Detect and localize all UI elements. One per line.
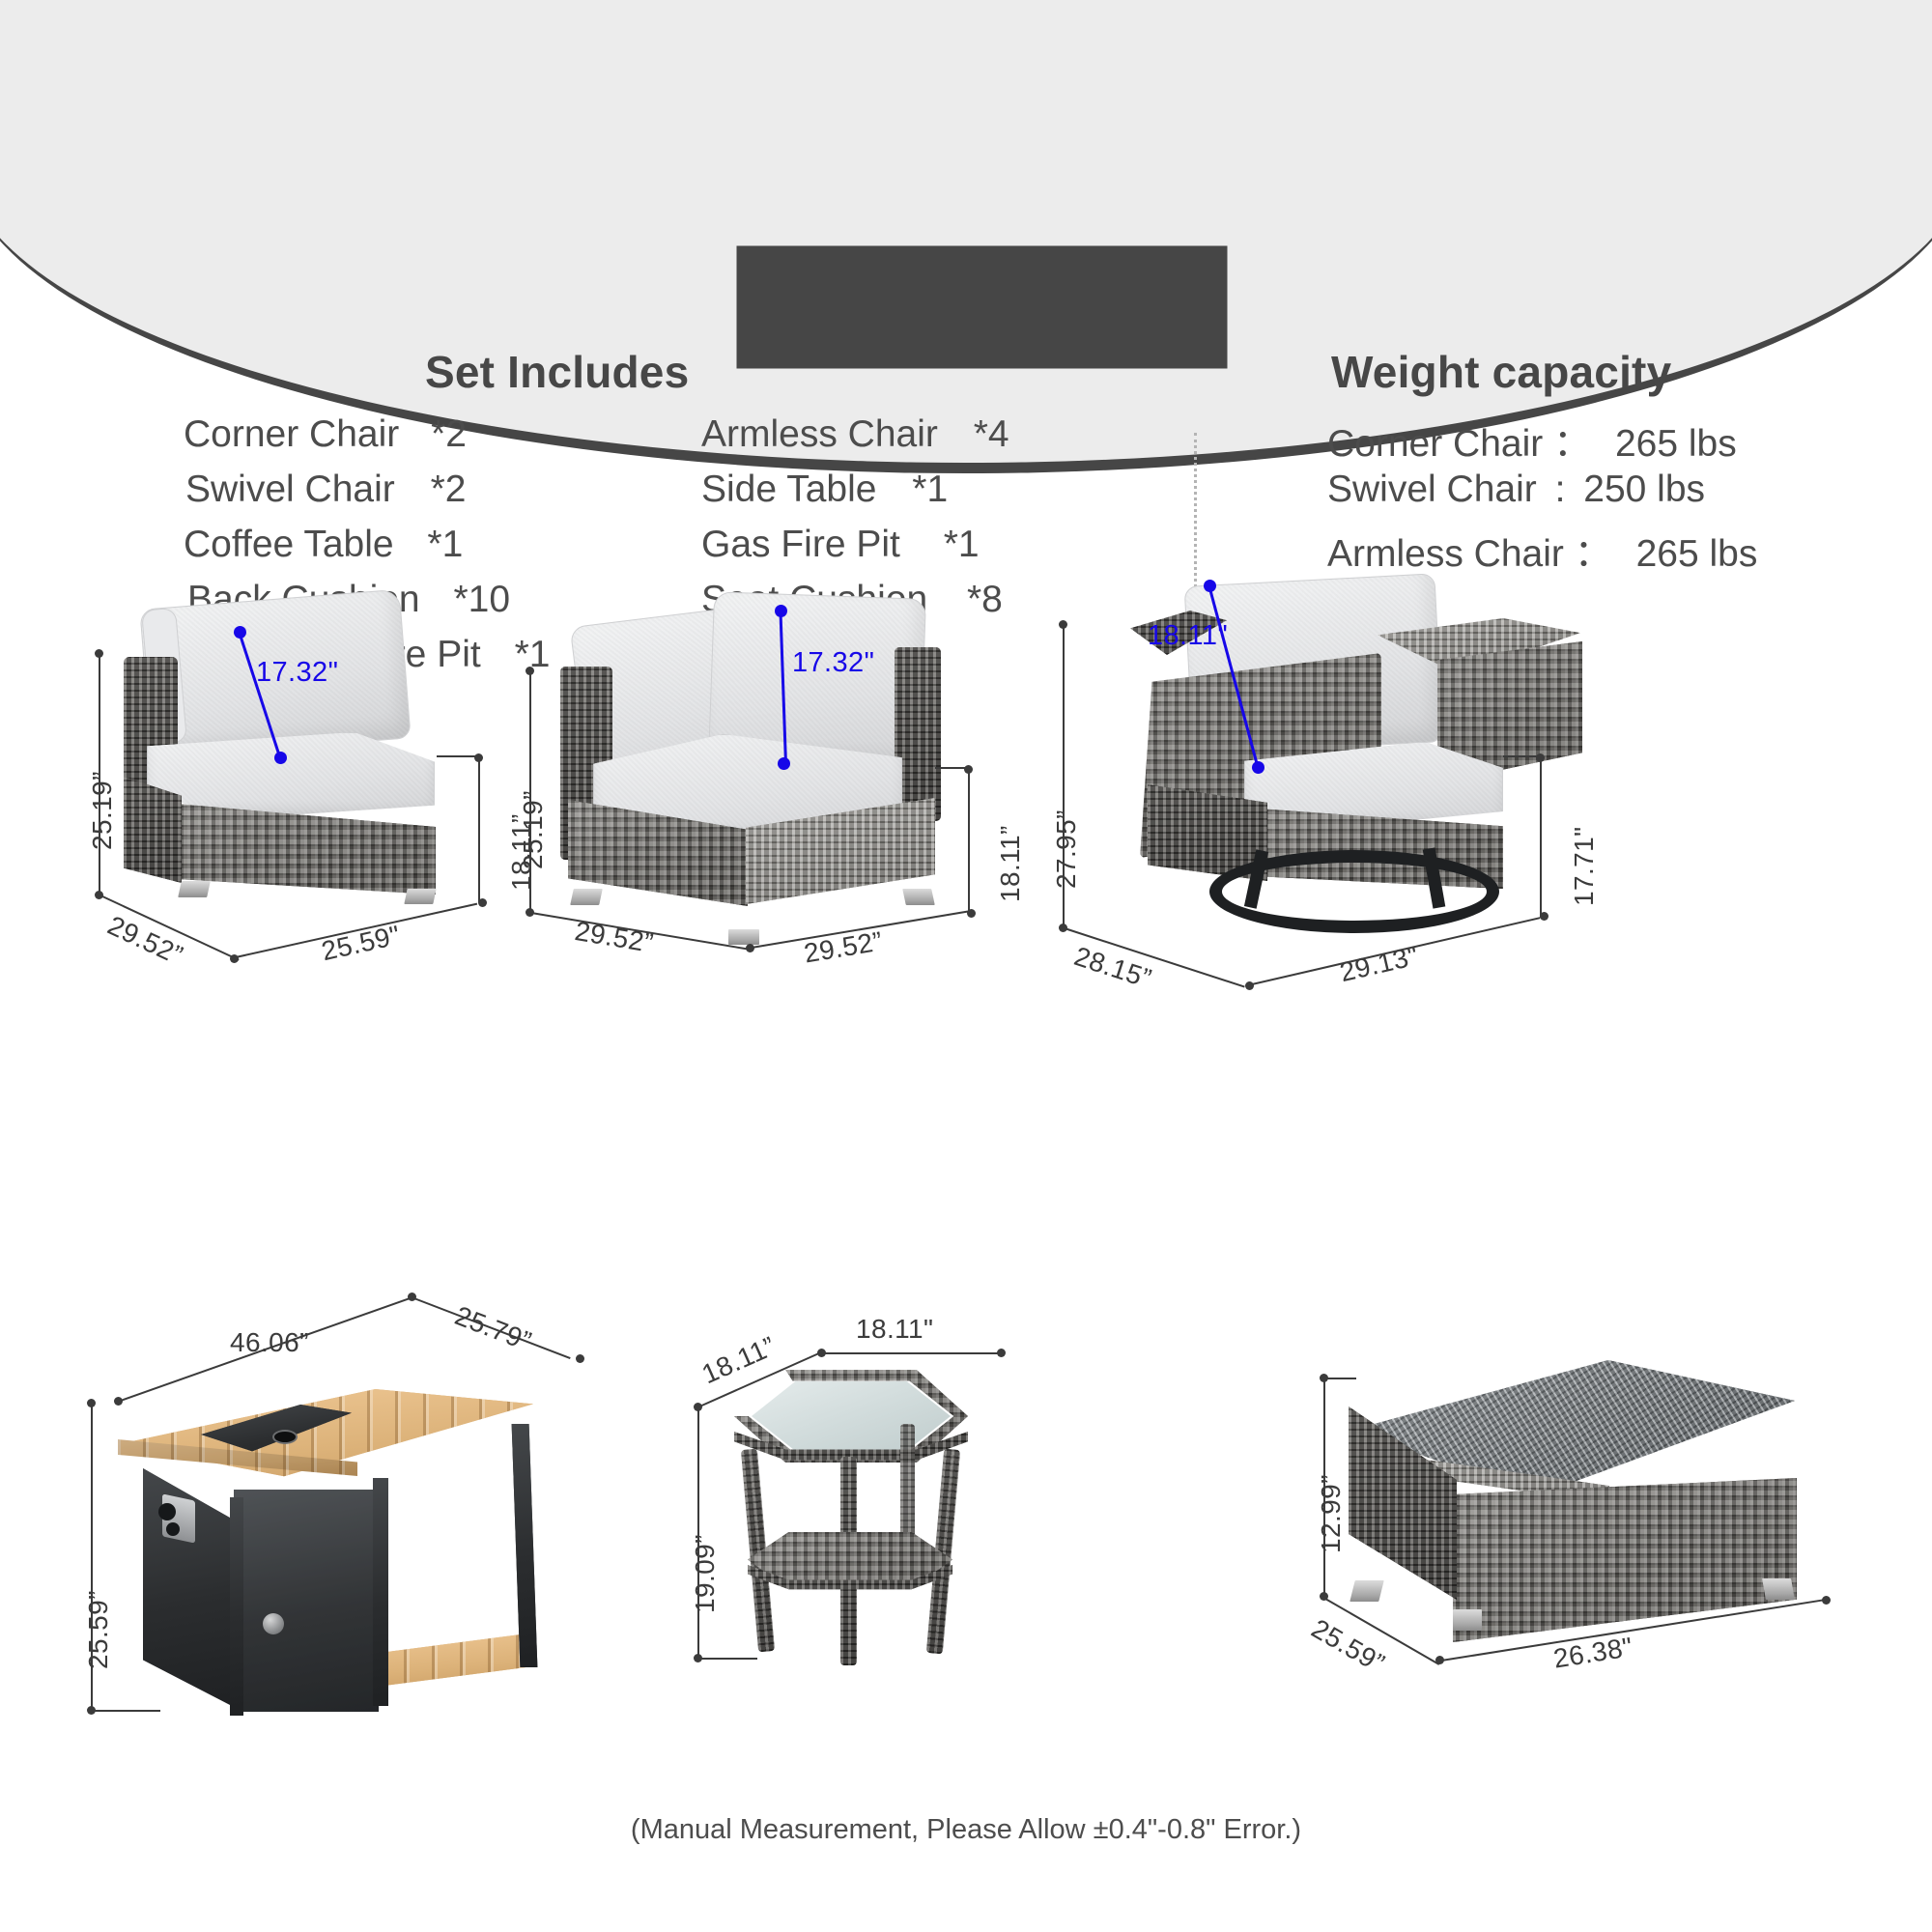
set-item-qty: *1 [887, 469, 948, 510]
weight-row-separator: : [1548, 469, 1566, 510]
figure-fire-pit-cover: 12.99” 25.59” 26.38" [1294, 1323, 1893, 1710]
corner-cushion-dim-label: 17.32" [792, 647, 874, 679]
firepit-height-leader-bottom [93, 1710, 160, 1712]
firepit-cover-depth-dim-label: 25.59” [1306, 1613, 1390, 1680]
corner-seat-height-leader [935, 767, 968, 769]
set-item-swivel-chair: Swivel Chair *2 [185, 469, 466, 511]
figure-gas-fire-pit-table: 46.06” 25.79” 25.59” [58, 1323, 676, 1739]
set-item-label: Corner Chair [184, 413, 399, 455]
set-item-label: Side Table [701, 469, 876, 510]
corner-foot-right [902, 889, 935, 905]
armless-cushion-measure-dot-bottom [274, 752, 287, 764]
armless-width-dim-label: 25.59" [319, 920, 403, 967]
firepit-burner-hole [272, 1430, 298, 1444]
swivel-seat-height-leader [1503, 755, 1540, 757]
set-item-label: Swivel Chair [185, 469, 395, 510]
corner-foot-center [728, 929, 759, 945]
weight-row-label: Corner Chair [1327, 423, 1543, 465]
armless-seat-height-leader [437, 755, 479, 757]
armless-foot-front-left [178, 881, 211, 897]
armless-height-dim-label: 25.19” [87, 771, 118, 850]
weight-row-swivel-chair: Swivel Chair : 250 lbs [1327, 469, 1705, 511]
side-table-width-dot [997, 1349, 1006, 1357]
side-table-width-dim-label: 18.11" [856, 1314, 933, 1345]
weight-row-value: 265 lbs [1602, 423, 1737, 465]
set-item-qty: *2 [410, 413, 467, 455]
firepit-cover-width-dim-label: 26.38" [1551, 1632, 1634, 1674]
swivel-cushion-dim-label: 18.11" [1148, 620, 1228, 652]
weight-row-label: Swivel Chair [1327, 469, 1537, 510]
weight-row-value: 250 lbs [1576, 469, 1705, 510]
firepit-depth-dot [576, 1354, 584, 1363]
figure-swivel-chair: 18.11" 27.95” 28.15” 29.13" 17.71" [1005, 560, 1874, 985]
firepit-cabinet-door [234, 1490, 379, 1712]
swivel-seat-height-line [1540, 757, 1542, 918]
set-item-label: Armless Chair [701, 413, 938, 455]
set-item-coffee-table: Coffee Table *1 [184, 524, 463, 566]
set-item-corner-chair: Corner Chair *2 [184, 413, 467, 456]
side-table-width-line [821, 1352, 1005, 1354]
swivel-height-dim-label: 27.95” [1051, 810, 1082, 889]
corner-seat-height-line [968, 769, 970, 914]
side-table-height-dim-label: 19.09” [690, 1534, 721, 1613]
side-table-depth-dim-label: 18.11” [697, 1331, 781, 1391]
side-table-height-leader [699, 1658, 757, 1660]
swivel-depth-dim-label: 28.15” [1070, 941, 1155, 995]
set-includes-title: Set Includes [425, 346, 689, 398]
swivel-seat-height-dim-label: 17.71" [1569, 827, 1600, 906]
firepit-cover-height-dim-label: 12.99” [1316, 1474, 1347, 1553]
figure-side-table: 18.11” 18.11" 19.09” [676, 1323, 1130, 1710]
firepit-length-dim-label: 46.06” [230, 1327, 309, 1358]
set-item-label: Gas Fire Pit [701, 524, 900, 565]
firepit-leg-front-right [373, 1478, 388, 1706]
armless-foot-front-right [404, 889, 436, 904]
swivel-width-dim-label: 29.13" [1337, 940, 1422, 988]
corner-height-dim-label: 25.19” [518, 790, 549, 869]
firepit-control-knob [158, 1503, 176, 1520]
firepit-cabinet-door-knob [263, 1613, 284, 1634]
firepit-height-dot-top [87, 1399, 96, 1407]
firepit-length-dot-left [114, 1397, 123, 1406]
firepit-cover-foot-left [1350, 1580, 1383, 1602]
armless-depth-dim-label: 29.52” [102, 910, 187, 972]
set-item-label: Coffee Table [184, 524, 394, 565]
set-item-armless-chair: Armless Chair *4 [701, 413, 1009, 456]
figure-armless-chair: 17.32" 25.19” 29.52” 25.59" 18.11” [0, 570, 599, 976]
corner-depth-dim-label: 29.52” [573, 916, 656, 959]
firepit-lower-shelf [379, 1633, 535, 1692]
firepit-igniter-knob [166, 1522, 180, 1536]
corner-foot-left [570, 889, 603, 905]
corner-cushion-measure-dot-bottom [778, 757, 790, 770]
weight-capacity-title: Weight capacity [1331, 346, 1671, 398]
firepit-cover-foot-center [1453, 1609, 1482, 1631]
firepit-cover-foot-right [1762, 1578, 1795, 1600]
firepit-leg-rear-right [512, 1424, 538, 1667]
armless-cushion-measure-dot-top [234, 626, 246, 639]
swivel-cushion-measure-dot-top [1204, 580, 1216, 592]
side-table-glass-top [752, 1381, 951, 1451]
armless-cushion-dim-label: 17.32" [256, 657, 338, 689]
weight-row-corner-chair: Corner Chair ： 265 lbs [1327, 413, 1737, 468]
set-item-qty: *1 [911, 524, 980, 565]
set-item-qty: *2 [406, 469, 467, 510]
firepit-height-dim-label: 25.59” [83, 1590, 114, 1669]
firepit-cover-width-dot [1822, 1596, 1831, 1605]
corner-cushion-measure-dot-top [775, 605, 787, 617]
set-item-qty: *1 [404, 524, 463, 565]
set-item-qty: *4 [949, 413, 1009, 455]
firepit-table-top [118, 1389, 533, 1495]
firepit-leg-front-left [230, 1497, 243, 1716]
corner-width-dim-label: 29.52” [802, 925, 885, 969]
weight-row-separator: ： [1553, 423, 1591, 465]
swivel-cushion-measure-dot-bottom [1252, 761, 1264, 774]
set-item-gas-fire-pit: Gas Fire Pit *1 [701, 524, 980, 566]
measurement-disclaimer: (Manual Measurement, Please Allow ±0.4"-… [0, 1814, 1932, 1846]
set-item-side-table: Side Table *1 [701, 469, 948, 511]
firepit-cover-height-leader-top [1325, 1378, 1356, 1379]
armless-seat-height-line [478, 757, 480, 902]
firepit-depth-dim-label: 25.79” [451, 1300, 536, 1357]
firepit-cover-front-face [1453, 1478, 1797, 1642]
side-table-height-line [697, 1408, 699, 1658]
